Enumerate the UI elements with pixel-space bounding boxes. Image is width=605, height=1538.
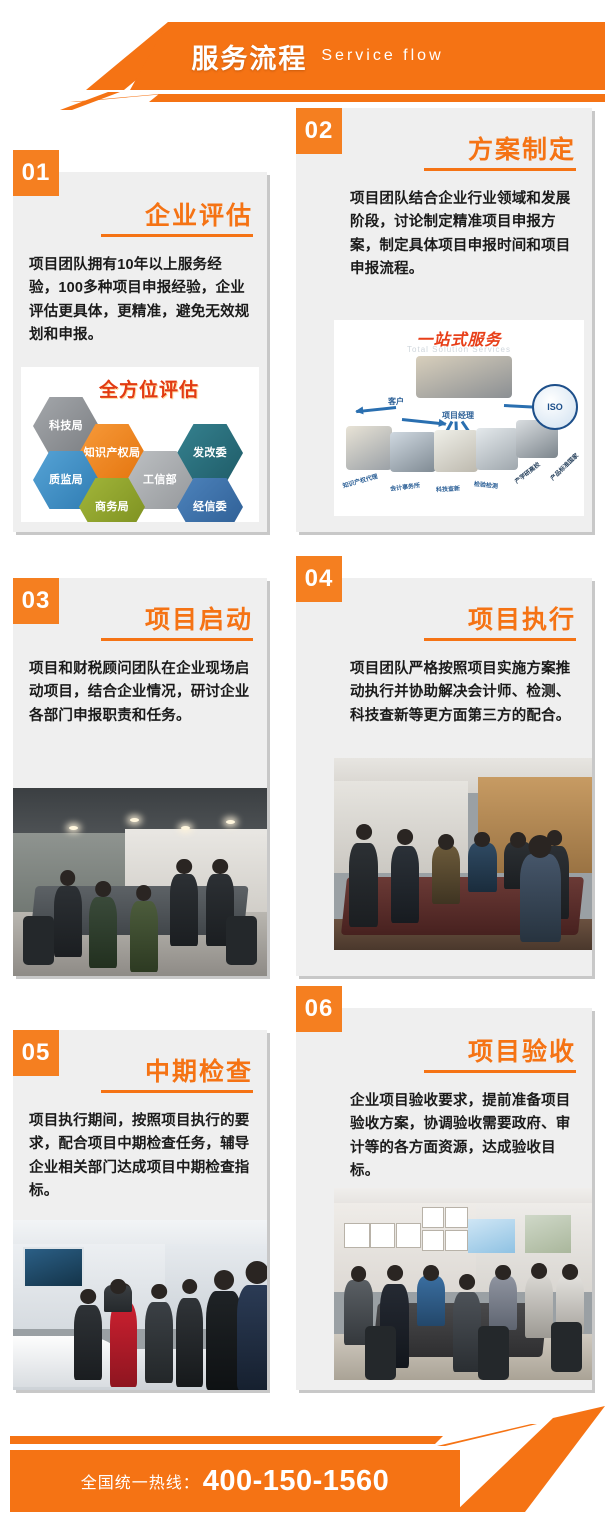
photo-person [145,1302,173,1384]
step-card-04: 项目执行 项目团队严格按照项目实施方案推动执行并协助解决会计师、检测、科技查新等… [296,578,592,976]
oss-photo-accounting [390,432,436,472]
photo-scene [334,1188,592,1380]
hexagon-node-label: 商务局 [95,501,129,514]
showroom-visit-photo [13,1220,267,1390]
footer-hotline-label: 全国统一热线： [81,1469,200,1493]
photo-scene [13,1220,267,1390]
photo-person [130,901,158,972]
header-accent-triangle [60,92,120,110]
step-badge-03: 03 [13,578,59,624]
oss-arrow-manager [402,418,446,426]
photo-person [417,1276,445,1326]
card-title-rule-03 [101,638,253,641]
step-badge-02: 02 [296,108,342,154]
oss-center-photo [416,356,512,398]
step-number-06: 06 [305,995,334,1023]
footer-accent-line [10,1436,443,1444]
photo-person [453,1292,481,1373]
step-badge-04: 04 [296,556,342,602]
photo-projector-screen [468,1219,514,1254]
step-card-01: 企业评估 项目团队拥有10年以上服务经验，100多种项目申报经验，企业评估更具体… [13,172,267,532]
card-title-rule-02 [424,168,576,171]
photo-person [110,1302,138,1387]
photo-chair [551,1322,582,1372]
photo-certificate-frame [445,1230,468,1251]
photo-person [520,854,561,942]
photo-person [170,874,198,945]
step-card-05: 中期检查 项目执行期间，按照项目执行的要求，配合项目中期检查任务，辅导企业相关部… [13,1030,267,1390]
header-underline [149,94,605,102]
step-number-02: 02 [305,117,334,145]
hexagon-node-label: 发改委 [193,447,227,460]
oss-bottom-label-3: 检验检测 [474,479,499,490]
photo-lamp [130,818,139,822]
oss-arrow-left [356,406,396,413]
card-title-04: 项目执行 [468,600,576,636]
photo-certificate-frame [422,1230,445,1251]
step-number-04: 04 [305,565,334,593]
photo-certificate-frame [370,1223,395,1248]
photo-chair [365,1326,396,1380]
photo-certificate-frame [344,1223,369,1248]
card-title-01: 企业评估 [145,196,253,232]
photo-chair [478,1326,509,1380]
card-title-02: 方案制定 [468,130,576,166]
photo-person [391,846,419,923]
oss-center-label-0: 客户 [388,396,404,407]
photo-person [432,846,460,904]
card-title-rule-05 [101,1090,253,1093]
step-badge-01: 01 [13,150,59,196]
card-title-05: 中期检查 [145,1052,253,1088]
photo-scene [334,758,592,950]
photo-person [89,897,117,968]
hexagon-node-label: 工信部 [143,474,177,487]
step-card-06: 项目验收 企业项目验收要求，提前准备项目验收方案，协调验收需要政府、审计等的各方… [296,1008,592,1390]
photo-person [349,843,377,927]
photo-certificate-frame [396,1223,421,1248]
photo-lamp [69,826,78,830]
oss-photo-inspection [476,428,518,470]
photo-person [74,1305,102,1380]
photo-chair [226,916,256,965]
oss-bottom-label-0: 知识产权代理 [341,471,378,490]
acceptance-meeting-photo [334,1188,592,1380]
card-body-03: 项目和财税顾问团队在企业现场启动项目，结合企业情况，研讨企业各部门申报职责和任务… [29,658,251,728]
oss-photo-ip [346,426,392,470]
photo-display-screen [23,1247,84,1288]
card-body-02: 项目团队结合企业行业领域和发展阶段，讨论制定精准项目申报方案，制定具体项目申报时… [350,188,576,282]
photo-person [54,886,82,957]
one-stop-service-diagram: 一站式服务 Total Solution Services 客户 项目经理 IS… [334,320,584,516]
oss-photo-novelty [434,430,478,472]
hexagon-node-label: 经信委 [193,501,227,514]
hexagon-node-label: 知识产权局 [84,447,141,460]
card-body-04: 项目团队严格按照项目实施方案推动执行并协助解决会计师、检测、科技查新等更方面第三… [350,658,576,728]
footer-hotline-number[interactable]: 400-150-1560 [203,1465,390,1498]
photo-person [525,1276,553,1337]
card-body-05: 项目执行期间，按照项目执行的要求，配合项目中期检查任务，辅导企业相关部门达成项目… [29,1110,251,1204]
photo-person [176,1298,204,1386]
meeting-laptops-photo [334,758,592,950]
step-number-05: 05 [22,1039,51,1067]
card-title-06: 项目验收 [468,1032,576,1068]
photo-chair [23,916,53,965]
oss-subtitle: Total Solution Services [334,345,584,354]
card-title-03: 项目启动 [145,600,253,636]
footer-band-slant [455,1406,605,1512]
photo-person [237,1285,267,1390]
card-body-01: 项目团队拥有10年以上服务经验，100多种项目申报经验，企业评估更具体，更精准，… [29,254,251,348]
step-number-01: 01 [22,159,51,187]
page-header: 服务流程 Service flow [0,0,605,110]
page-footer: 全国统一热线： 400-150-1560 [0,1418,605,1538]
oss-bottom-label-1: 会计事务所 [390,480,421,493]
iso-badge-text: ISO [547,402,563,412]
step-card-02: 方案制定 项目团队结合企业行业领域和发展阶段，讨论制定精准项目申报方案，制定具体… [296,108,592,532]
photo-certificate-frame [422,1207,445,1228]
step-number-03: 03 [22,587,51,615]
header-title-group: 服务流程 Service flow [0,22,605,90]
photo-lamp [181,826,190,830]
photo-person [104,1285,132,1312]
hexagon-diagram-title: 全方位评估 [99,375,199,402]
hexagon-assessment-diagram: 全方位评估 科技局 知识产权局 发改委 质监局 工信部 商务局 经信委 [21,367,259,522]
footer-hotline-group: 全国统一热线： 400-150-1560 [10,1450,460,1512]
oss-bottom-label-2: 科技查新 [436,483,460,493]
photo-whiteboard [525,1215,571,1253]
step-badge-06: 06 [296,986,342,1032]
page-title: 服务流程 [191,37,307,76]
step-badge-05: 05 [13,1030,59,1076]
photo-person [489,1276,517,1330]
card-title-rule-01 [101,234,253,237]
photo-scene [13,788,267,976]
iso-badge-icon: ISO [532,384,578,430]
step-card-03: 项目启动 项目和财税顾问团队在企业现场启动项目，结合企业情况，研讨企业各部门申报… [13,578,267,976]
hexagon-node-label: 科技局 [49,420,83,433]
conference-room-kickoff-photo [13,788,267,976]
card-title-rule-04 [424,638,576,641]
photo-certificate-frame [445,1207,468,1228]
footer-accent-line-slant [437,1424,537,1446]
oss-center-label-1: 项目经理 [442,410,474,421]
page-subtitle: Service flow [321,47,443,65]
card-body-06: 企业项目验收要求，提前准备项目验收方案，协调验收需要政府、审计等的各方面资源，达… [350,1090,576,1184]
hexagon-node-label: 质监局 [49,474,83,487]
card-title-rule-06 [424,1070,576,1073]
photo-person [468,843,496,893]
